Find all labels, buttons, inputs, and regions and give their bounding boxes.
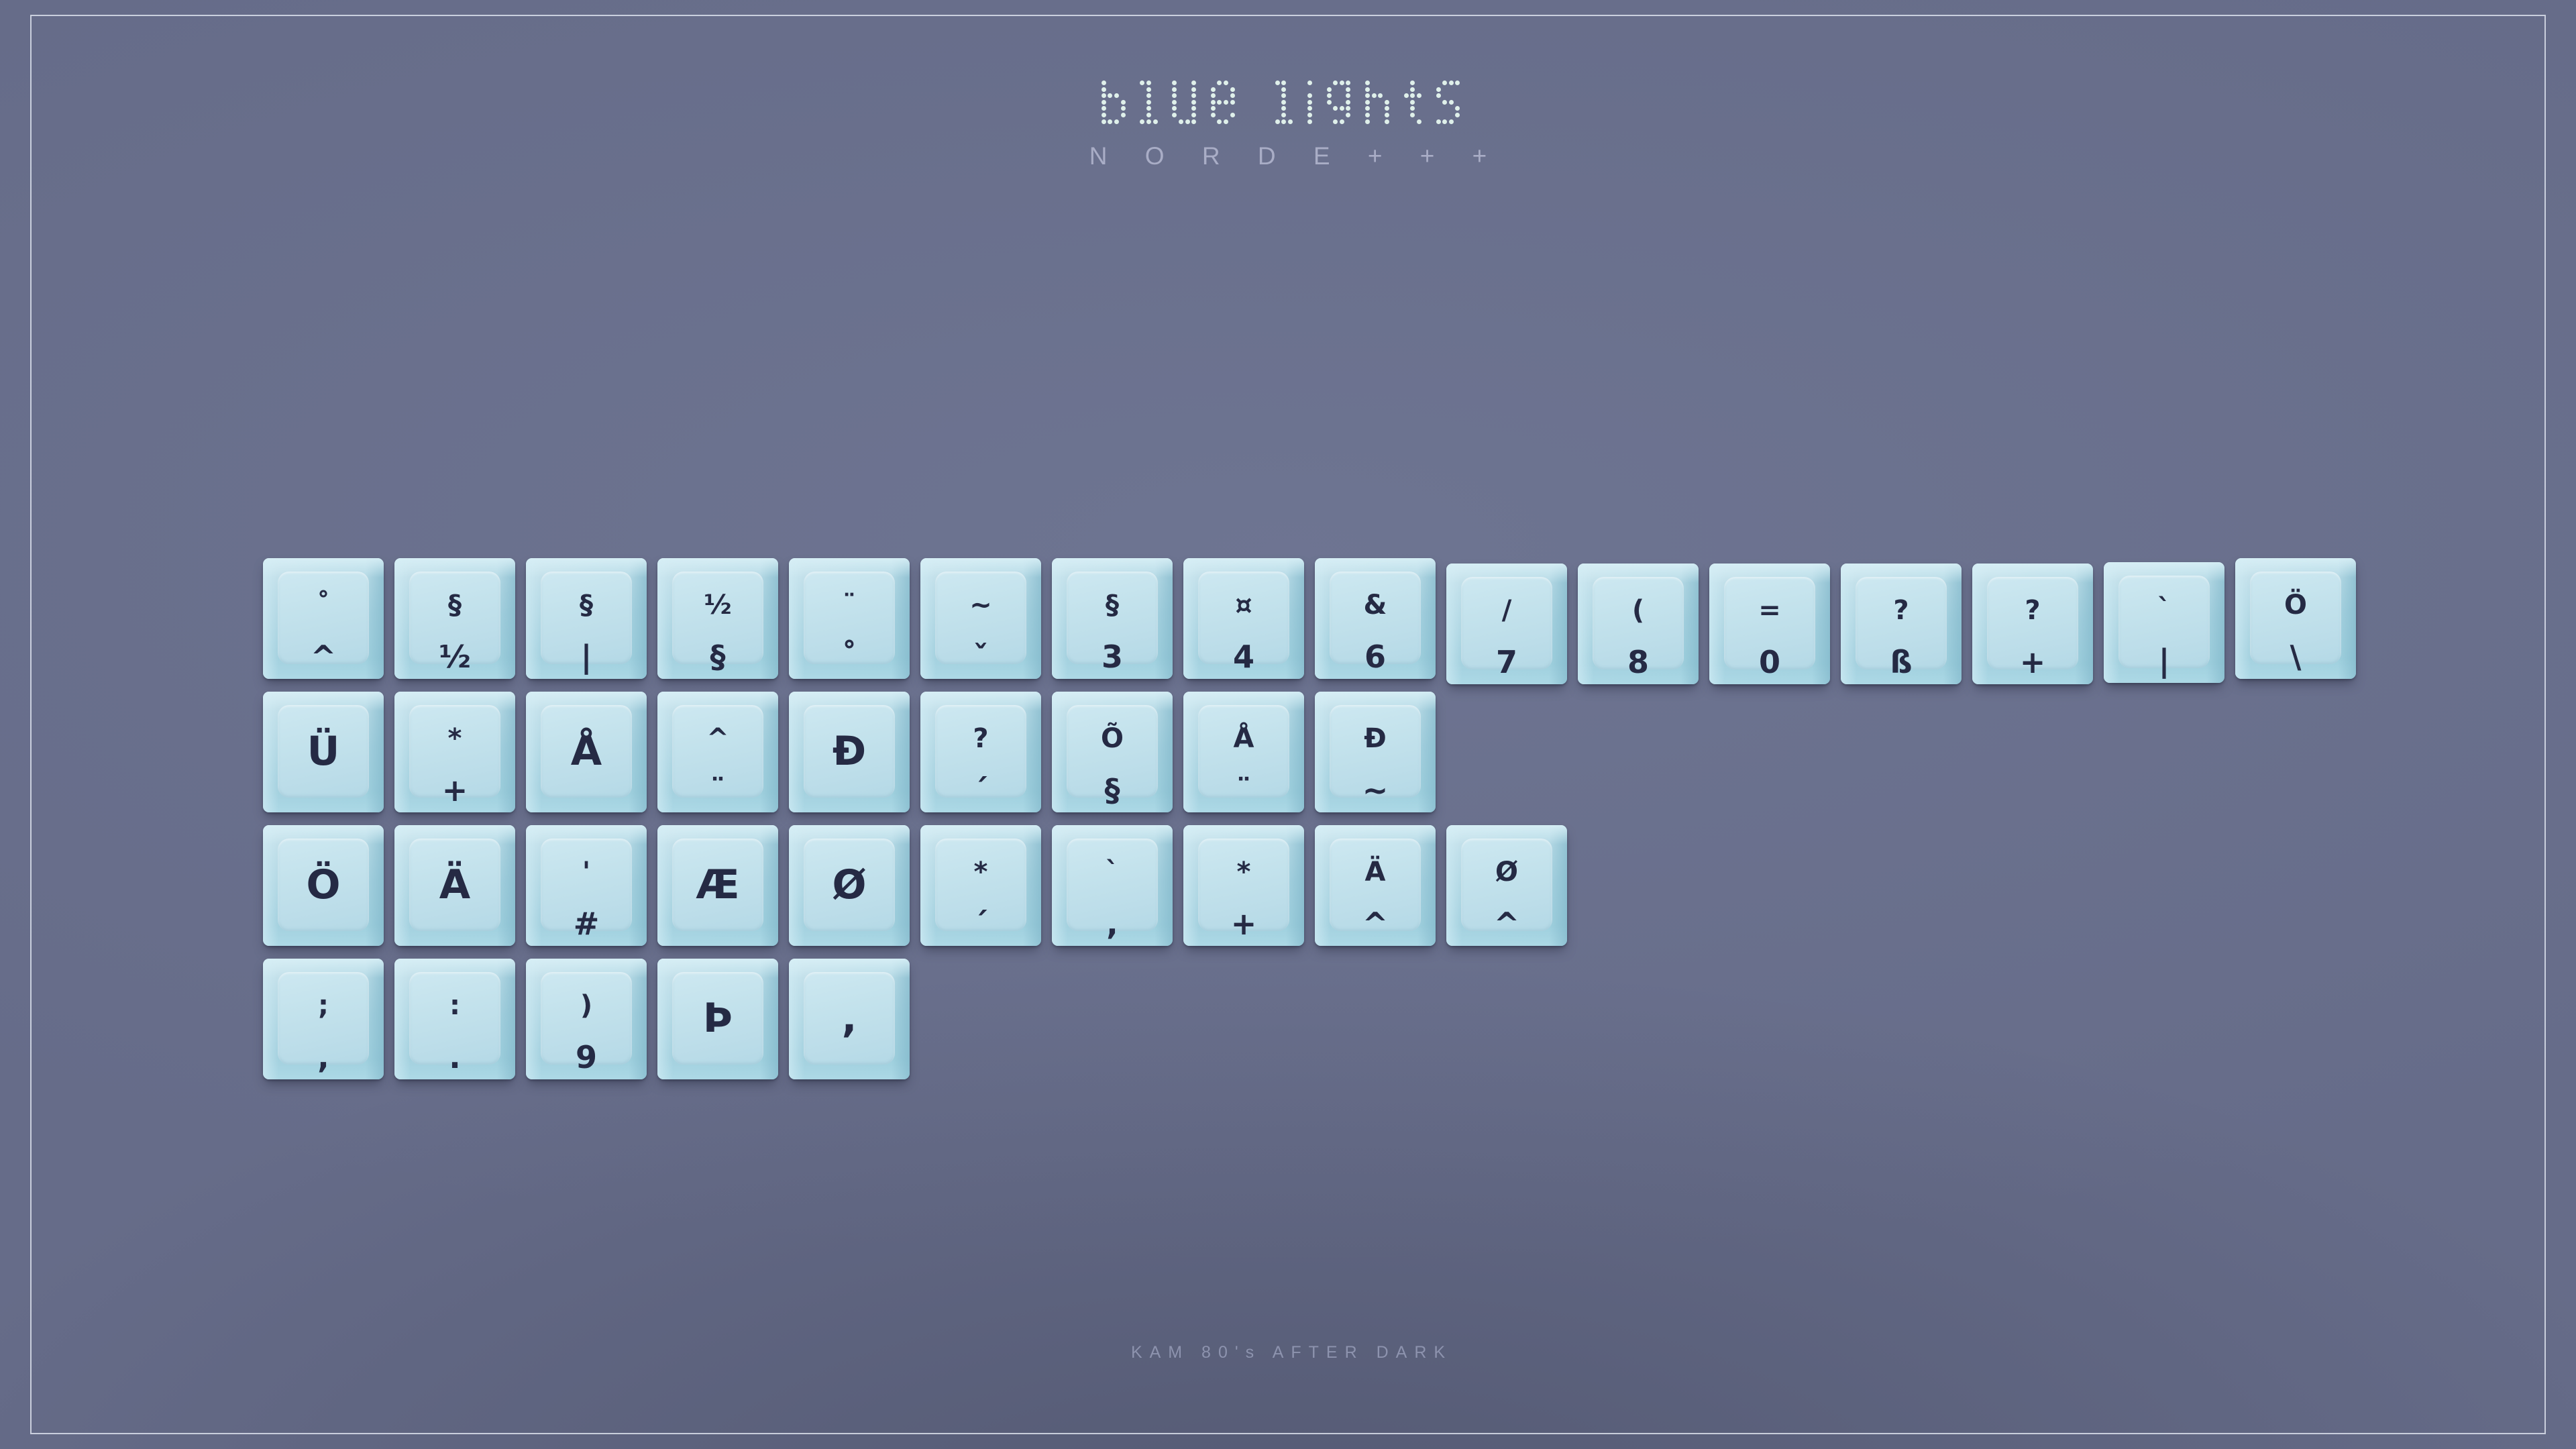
keycap-top-surface: Þ [672, 972, 763, 1065]
keycap-top-surface: Õ§ [1067, 705, 1158, 798]
keycap-legend-shifted: Đ [1364, 725, 1387, 752]
keycap[interactable]: Ö\ [2235, 558, 2356, 679]
keycap-legend-shifted: § [580, 592, 593, 619]
keycap-legend-primary: ^ [1494, 908, 1520, 939]
keycap-top-surface: Đ [804, 705, 895, 798]
keycap-legend-primary: Ö [306, 865, 340, 905]
keycap[interactable]: ½§ [657, 558, 778, 679]
keycap[interactable]: Ä^ [1315, 825, 1436, 946]
keycap-legend-primary: ½ [439, 641, 471, 672]
keycap-legend-primary: ´ [973, 775, 989, 806]
keycap-top-surface: (8 [1593, 577, 1684, 669]
keycap-legend-primary: 3 [1102, 641, 1123, 672]
keycap-top-surface: Ä [409, 839, 500, 931]
keycap-legend-primary: 7 [1496, 647, 1517, 678]
keycap-legend-primary: ~ [1362, 775, 1389, 806]
keycap[interactable]: *+ [394, 692, 515, 812]
keycap-top-surface: *+ [1198, 839, 1289, 931]
keycap[interactable]: Æ [657, 825, 778, 946]
keycap-legend-primary: ^ [1362, 908, 1389, 939]
keycap-top-surface: §3 [1067, 572, 1158, 664]
keycap-legend-shifted: ? [2025, 597, 2040, 624]
keycap[interactable]: '# [526, 825, 647, 946]
keycap[interactable]: Þ [657, 959, 778, 1079]
keycap[interactable]: ?+ [1972, 563, 2093, 684]
keycap[interactable]: (8 [1578, 563, 1699, 684]
keycap-legend-primary: , [1106, 908, 1118, 939]
keycap-top-surface: &6 [1330, 572, 1421, 664]
keycap-legend-shifted: Ö [2284, 592, 2307, 619]
keycap-legend-shifted: ( [1632, 597, 1644, 624]
keycap-top-surface: Ø [804, 839, 895, 931]
keycap-top-surface: `, [1067, 839, 1158, 931]
keycap-legend-shifted: ` [1106, 859, 1119, 885]
keycap-legend-primary: Ü [307, 731, 340, 771]
keycap-top-surface: ¤4 [1198, 572, 1289, 664]
keycap[interactable]: =0 [1709, 563, 1830, 684]
keycap-legend-primary: ´ [973, 908, 989, 939]
keycap-top-surface: Å [541, 705, 632, 798]
keycap-top-surface: Ü [278, 705, 369, 798]
keycap-legend-primary: 9 [576, 1042, 597, 1073]
keycap-legend-shifted: ' [582, 859, 590, 885]
keycap-top-surface: ?+ [1987, 577, 2078, 669]
keycap-legend-primary: + [2020, 647, 2046, 678]
keycap[interactable]: Ø^ [1446, 825, 1567, 946]
keycap-top-surface: §| [541, 572, 632, 664]
keycap-top-surface: ½§ [672, 572, 763, 664]
keycap-top-surface: :. [409, 972, 500, 1065]
keycap[interactable]: &6 [1315, 558, 1436, 679]
keycap-top-surface: ?´ [935, 705, 1026, 798]
keycap-top-surface: §½ [409, 572, 500, 664]
keycap-top-surface: '# [541, 839, 632, 931]
keycap-legend-shifted: * [448, 725, 462, 752]
keycap[interactable]: Đ~ [1315, 692, 1436, 812]
keycap[interactable]: `, [1052, 825, 1173, 946]
keycap-legend-primary: ˚ [842, 641, 857, 672]
keycap[interactable]: ¤4 [1183, 558, 1304, 679]
keycap-legend-primary: # [574, 908, 600, 939]
keycap-legend-shifted: § [1106, 592, 1119, 619]
keycap-top-surface: ˚^ [278, 572, 369, 664]
keycap-legend-primary: ß [1890, 647, 1912, 678]
keycap[interactable]: ˚^ [263, 558, 384, 679]
keycap-legend-primary: Đ [833, 731, 866, 771]
keycap[interactable]: /7 [1446, 563, 1567, 684]
keycap[interactable]: , [789, 959, 910, 1079]
keycap-legend-shifted: / [1502, 597, 1512, 624]
keycap[interactable]: ?ß [1841, 563, 1962, 684]
keycap-legend-primary: 0 [1759, 647, 1780, 678]
keycap-legend-shifted: § [448, 592, 462, 619]
keycap-legend-shifted: ˚ [317, 592, 330, 619]
keycap[interactable]: Đ [789, 692, 910, 812]
keycap[interactable]: :. [394, 959, 515, 1079]
keycap[interactable]: Å¨ [1183, 692, 1304, 812]
footer-caption: KAM 80's AFTER DARK [0, 1343, 2576, 1362]
keycap-legend-shifted: : [449, 992, 460, 1019]
keycap-top-surface: ^¨ [672, 705, 763, 798]
keycap-legend-primary: , [317, 1042, 329, 1073]
keycap[interactable]: Õ§ [1052, 692, 1173, 812]
keycap-top-surface: `| [2118, 576, 2210, 668]
keycap-top-surface: =0 [1724, 577, 1815, 669]
keycap[interactable]: Ü [263, 692, 384, 812]
keycap-legend-primary: + [1231, 908, 1257, 939]
keycap[interactable]: Ø [789, 825, 910, 946]
keycap[interactable]: §| [526, 558, 647, 679]
keycap-legend-shifted: ) [580, 992, 592, 1019]
keycap-legend-shifted: ¨ [843, 592, 856, 619]
keycap-legend-shifted: Ä [1365, 859, 1386, 885]
keycap-top-surface: Æ [672, 839, 763, 931]
keycap[interactable]: §½ [394, 558, 515, 679]
keycap-legend-primary: 4 [1233, 641, 1254, 672]
keycap-top-surface: ¨˚ [804, 572, 895, 664]
header: N O R D E + + + [0, 80, 2576, 170]
keycap-legend-primary: , [842, 998, 857, 1038]
keycap-legend-shifted: & [1364, 592, 1387, 619]
keycap-legend-shifted: Ø [1495, 859, 1518, 885]
keycap-legend-primary: Ä [439, 865, 470, 905]
keycap-top-surface: *+ [409, 705, 500, 798]
keycap-top-surface: /7 [1461, 577, 1552, 669]
keycap-top-surface: , [804, 972, 895, 1065]
keycap-top-surface: Ø^ [1461, 839, 1552, 931]
keycap-legend-primary: ¨ [710, 775, 726, 806]
keycap-top-surface: Å¨ [1198, 705, 1289, 798]
keycap-legend-shifted: ? [1893, 597, 1909, 624]
keycap[interactable]: *´ [920, 825, 1041, 946]
keycap-top-surface: Đ~ [1330, 705, 1421, 798]
keycap-top-surface: ?ß [1856, 577, 1947, 669]
keycap-legend-primary: . [449, 1042, 460, 1073]
keycap-legend-shifted: ; [318, 992, 329, 1019]
keycap-legend-shifted: Õ [1101, 725, 1124, 752]
keycap-legend-primary: Þ [703, 998, 733, 1038]
keycap-legend-primary: + [442, 775, 468, 806]
keycap-legend-shifted: ¤ [1235, 592, 1252, 619]
page-title [1102, 80, 1474, 125]
page-subtitle: N O R D E + + + [0, 142, 2576, 170]
keycap-legend-primary: Æ [696, 865, 739, 905]
keycap[interactable]: ^¨ [657, 692, 778, 812]
keycap[interactable]: ~ˇ [920, 558, 1041, 679]
keycap-top-surface: Ä^ [1330, 839, 1421, 931]
keycap[interactable]: Å [526, 692, 647, 812]
keycap[interactable]: ¨˚ [789, 558, 910, 679]
keycap-legend-primary: 6 [1364, 641, 1386, 672]
keycap[interactable]: Ö [263, 825, 384, 946]
keycap[interactable]: ;, [263, 959, 384, 1079]
keycap[interactable]: ?´ [920, 692, 1041, 812]
keycap-legend-primary: ¨ [1236, 775, 1252, 806]
keycap-legend-primary: | [2159, 645, 2170, 676]
keycap-legend-shifted: ~ [969, 592, 992, 619]
keycap-top-surface: )9 [541, 972, 632, 1065]
keycap-legend-primary: \ [2290, 641, 2302, 672]
keycap[interactable]: )9 [526, 959, 647, 1079]
keycap-legend-primary: ^ [311, 641, 337, 672]
keycap-legend-primary: Å [571, 731, 602, 771]
keycap-legend-shifted: ` [2157, 596, 2171, 623]
keycap-top-surface: *´ [935, 839, 1026, 931]
keycap-top-surface: ;, [278, 972, 369, 1065]
keycap-top-surface: ~ˇ [935, 572, 1026, 664]
keycap-legend-shifted: ½ [704, 592, 731, 619]
keycap[interactable]: `| [2104, 562, 2224, 683]
keycap-top-surface: Ö\ [2250, 572, 2341, 664]
keycap-top-surface: Ö [278, 839, 369, 931]
keycap[interactable]: Ä [394, 825, 515, 946]
keycap[interactable]: *+ [1183, 825, 1304, 946]
keycap-legend-shifted: Å [1234, 725, 1254, 752]
keycap-legend-shifted: ^ [706, 725, 729, 752]
keycap-legend-primary: § [710, 641, 726, 672]
keycap-legend-shifted: * [974, 859, 988, 885]
keycap-legend-shifted: * [1237, 859, 1251, 885]
keycap[interactable]: §3 [1052, 558, 1173, 679]
keycap-legend-shifted: ? [973, 725, 988, 752]
keycap-legend-shifted: = [1758, 597, 1781, 624]
keycap-legend-primary: § [1105, 775, 1120, 806]
keycap-legend-primary: Ø [832, 865, 866, 905]
keycap-legend-primary: | [581, 641, 592, 672]
keycap-legend-primary: 8 [1627, 647, 1649, 678]
keycap-legend-primary: ˇ [973, 641, 989, 672]
